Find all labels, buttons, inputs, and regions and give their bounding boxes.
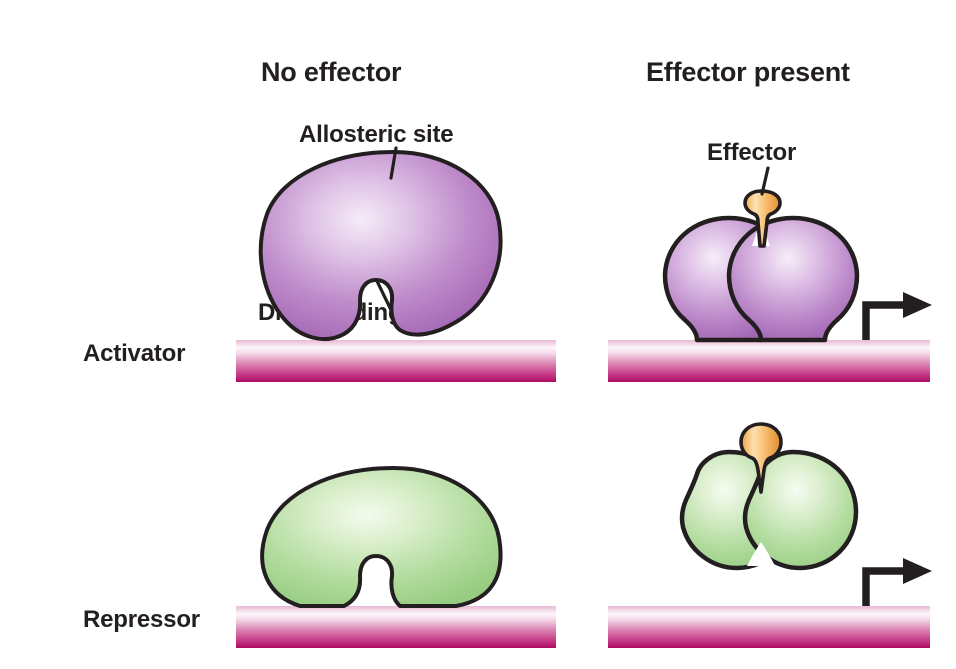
repressor-protein-monomer <box>262 468 500 606</box>
dna-bar-activator-no-effector <box>236 340 556 382</box>
activator-protein-monomer <box>261 152 501 339</box>
dna-bar-activator-effector-present <box>608 340 930 382</box>
dna-bar-repressor-effector-present <box>608 606 930 648</box>
transcription-arrow-activator <box>866 292 932 340</box>
dna-bar-repressor-no-effector <box>236 606 556 648</box>
transcription-arrow-repressor <box>866 558 932 606</box>
activator-protein-dimer-right-lobe <box>729 218 857 340</box>
diagram-artwork <box>0 0 956 669</box>
regulatory-protein-diagram: No effector Effector present Allosteric … <box>0 0 956 669</box>
